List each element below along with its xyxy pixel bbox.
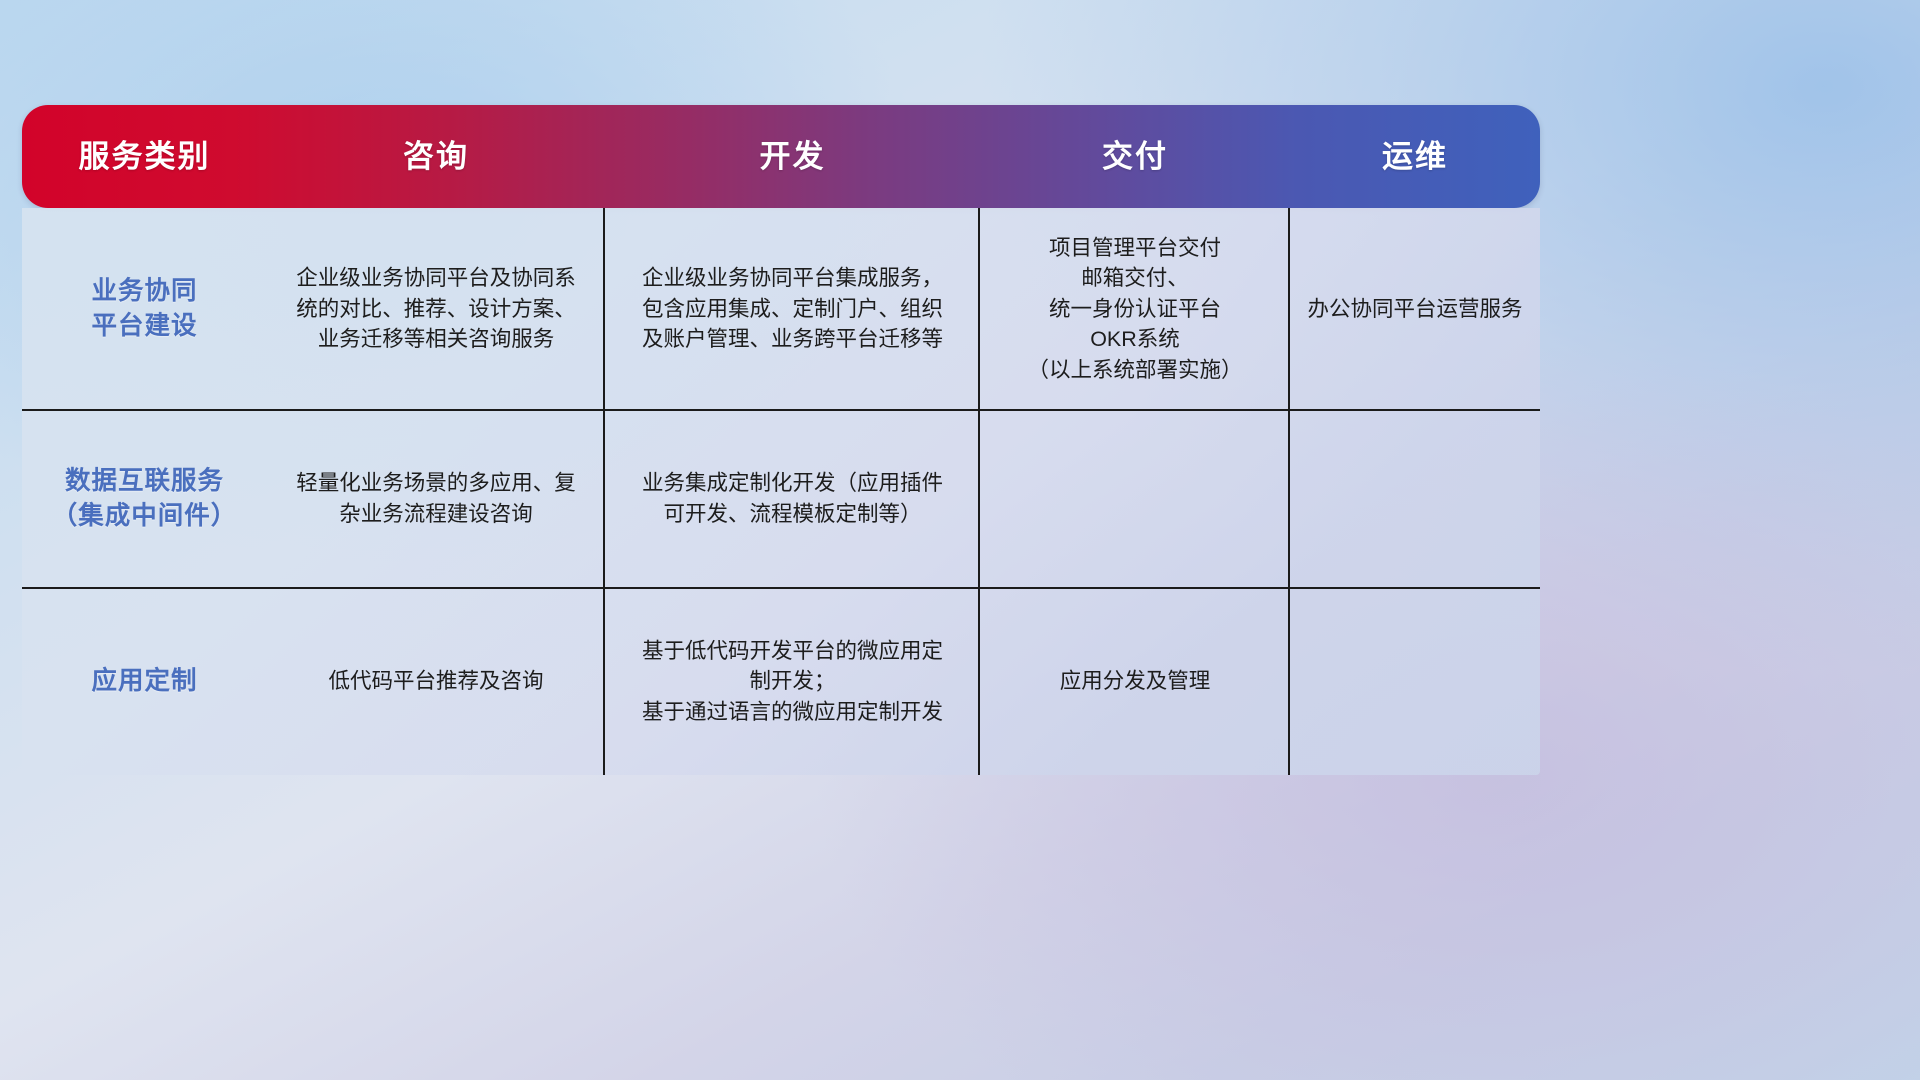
slide-canvas: 服务类别 咨询 开发 交付 运维 (0, 0, 1920, 1080)
header-label: 运维 (1382, 131, 1448, 176)
row-divider-2 (22, 587, 1540, 589)
cell-consulting: 轻量化业务场景的多应用、复 杂业务流程建设咨询 (267, 410, 605, 588)
cell-operations (1290, 588, 1540, 775)
table-row: 数据互联服务 （集成中间件） 轻量化业务场景的多应用、复 杂业务流程建设咨询 业… (22, 410, 1540, 588)
header-cell-delivery: 交付 (980, 105, 1290, 208)
service-matrix-table: 服务类别 咨询 开发 交付 运维 (22, 105, 1540, 775)
cell-delivery (980, 410, 1290, 588)
cell-development: 业务集成定制化开发（应用插件 可开发、流程模板定制等） (605, 410, 980, 588)
cell-delivery: 应用分发及管理 (980, 588, 1290, 775)
cell-operations (1290, 410, 1540, 588)
table-row: 业务协同 平台建设 企业级业务协同平台及协同系 统的对比、推荐、设计方案、 业务… (22, 208, 1540, 410)
table-row: 应用定制 低代码平台推荐及咨询 基于低代码开发平台的微应用定 制开发； 基于通过… (22, 588, 1540, 775)
header-label: 开发 (760, 131, 826, 176)
column-divider-consulting-development (603, 208, 605, 775)
table-body: 业务协同 平台建设 企业级业务协同平台及协同系 统的对比、推荐、设计方案、 业务… (22, 208, 1540, 775)
column-divider-development-delivery (978, 208, 980, 775)
row-category-label: 业务协同 平台建设 (22, 208, 267, 410)
header-cell-development: 开发 (605, 105, 980, 208)
cell-consulting: 企业级业务协同平台及协同系 统的对比、推荐、设计方案、 业务迁移等相关咨询服务 (267, 208, 605, 410)
header-label: 交付 (1102, 131, 1168, 176)
row-divider-1 (22, 409, 1540, 411)
row-category-label: 应用定制 (22, 588, 267, 775)
row-category-label: 数据互联服务 （集成中间件） (22, 410, 267, 588)
header-label: 咨询 (403, 131, 469, 176)
header-cell-operations: 运维 (1290, 105, 1540, 208)
cell-consulting: 低代码平台推荐及咨询 (267, 588, 605, 775)
header-cell-consulting: 咨询 (267, 105, 605, 208)
table-header-row: 服务类别 咨询 开发 交付 运维 (22, 105, 1540, 208)
cell-development: 企业级业务协同平台集成服务， 包含应用集成、定制门户、组织 及账户管理、业务跨平… (605, 208, 980, 410)
header-cell-service-category: 服务类别 (22, 105, 267, 208)
header-label: 服务类别 (79, 131, 211, 176)
cell-development: 基于低代码开发平台的微应用定 制开发； 基于通过语言的微应用定制开发 (605, 588, 980, 775)
column-divider-delivery-operations (1288, 208, 1290, 775)
cell-delivery: 项目管理平台交付 邮箱交付、 统一身份认证平台 OKR系统 （以上系统部署实施） (980, 208, 1290, 410)
cell-operations: 办公协同平台运营服务 (1290, 208, 1540, 410)
